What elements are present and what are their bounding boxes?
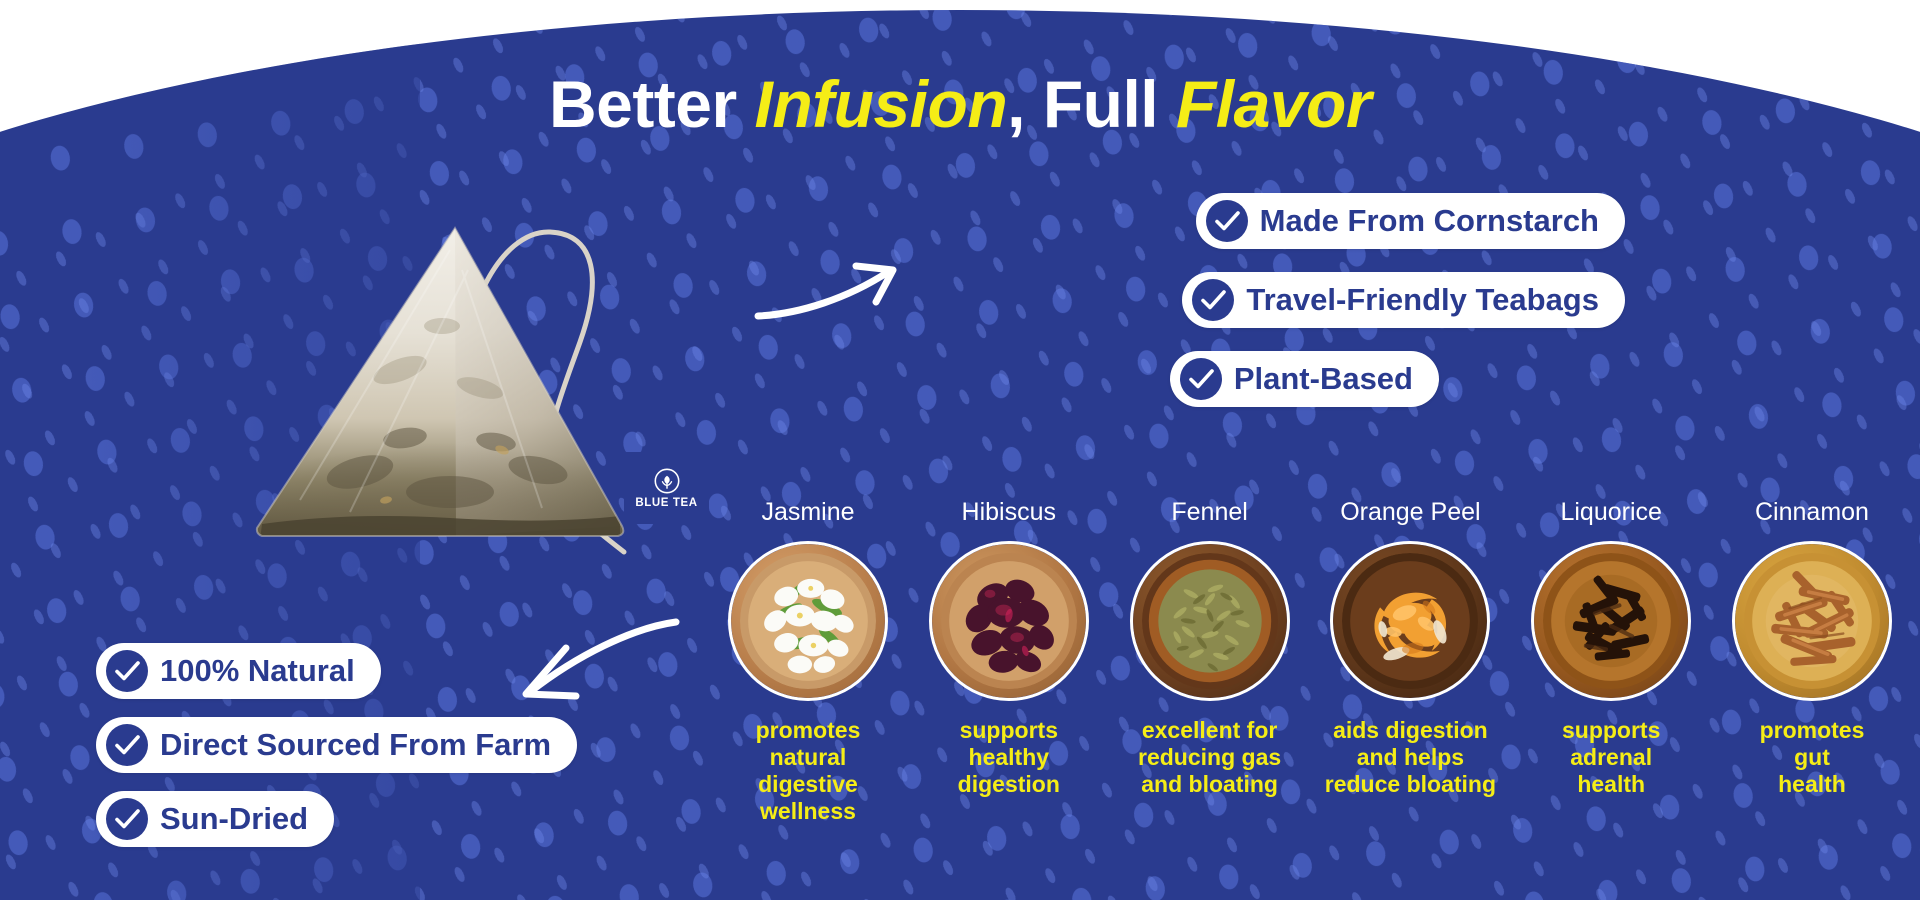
check-circle-icon bbox=[106, 798, 148, 840]
lotus-flower-icon bbox=[654, 468, 680, 494]
headline-accent-flavor: Flavor bbox=[1176, 67, 1371, 141]
feature-pill-label: Direct Sourced From Farm bbox=[160, 729, 551, 762]
ingredient-hibiscus: Hibiscus bbox=[911, 500, 1107, 900]
ingredient-liquorice: Liquorice bbox=[1513, 500, 1709, 900]
ingredient-orange-peel: Orange Peel bbox=[1312, 500, 1508, 900]
ingredient-name: Jasmine bbox=[761, 500, 854, 525]
ingredient-image-fennel bbox=[1130, 541, 1290, 701]
ingredient-jasmine: Jasmine bbox=[710, 500, 906, 900]
check-circle-icon bbox=[106, 724, 148, 766]
ingredient-image-hibiscus bbox=[929, 541, 1089, 701]
feature-pill-label: Made From Cornstarch bbox=[1260, 205, 1599, 238]
ingredient-name: Hibiscus bbox=[962, 500, 1056, 525]
check-circle-icon bbox=[106, 650, 148, 692]
check-circle-icon bbox=[1206, 200, 1248, 242]
ingredient-image-jasmine bbox=[728, 541, 888, 701]
ingredient-image-cinnamon bbox=[1732, 541, 1892, 701]
brand-tag-label: BLUE TEA bbox=[635, 497, 697, 509]
ingredient-description: excellent for reducing gas and bloating bbox=[1138, 717, 1281, 798]
feature-pill-cornstarch[interactable]: Made From Cornstarch bbox=[1196, 193, 1625, 249]
ingredient-cinnamon: Cinnamon bbox=[1714, 500, 1910, 900]
banner-canvas: Better Infusion, Full Flavor bbox=[0, 0, 1920, 900]
check-circle-icon bbox=[1180, 358, 1222, 400]
feature-pill-label: Sun-Dried bbox=[160, 803, 308, 836]
ingredient-image-liquorice bbox=[1531, 541, 1691, 701]
headline-accent-infusion: Infusion bbox=[755, 67, 1008, 141]
ingredient-name: Cinnamon bbox=[1755, 500, 1869, 525]
feature-pill-travel-friendly[interactable]: Travel-Friendly Teabags bbox=[1182, 272, 1625, 328]
arrow-to-benefits-icon bbox=[514, 612, 684, 702]
check-circle-icon bbox=[1192, 279, 1234, 321]
feature-pill-direct-sourced[interactable]: Direct Sourced From Farm bbox=[96, 717, 577, 773]
feature-pill-label: Travel-Friendly Teabags bbox=[1246, 284, 1599, 317]
feature-pill-plant-based[interactable]: Plant-Based bbox=[1170, 351, 1439, 407]
ingredient-description: supports adrenal health bbox=[1562, 717, 1660, 798]
feature-pill-label: Plant-Based bbox=[1234, 363, 1413, 396]
feature-pill-label: 100% Natural bbox=[160, 655, 355, 688]
ingredient-name: Liquorice bbox=[1560, 500, 1661, 525]
ingredient-fennel: Fennel bbox=[1112, 500, 1308, 900]
ingredient-description: aids digestion and helps reduce bloating bbox=[1325, 717, 1496, 798]
ingredient-description: promotes gut health bbox=[1760, 717, 1865, 798]
ingredient-name: Orange Peel bbox=[1340, 500, 1480, 525]
brand-tag: BLUE TEA bbox=[624, 452, 709, 524]
ingredient-description: supports healthy digestion bbox=[958, 717, 1060, 798]
headline-part-2: , Full bbox=[1007, 67, 1176, 141]
ingredient-name: Fennel bbox=[1171, 500, 1247, 525]
ingredient-list: Jasmine bbox=[710, 500, 1910, 900]
feature-pill-100-natural[interactable]: 100% Natural bbox=[96, 643, 381, 699]
ingredient-description: promotes natural digestive wellness bbox=[756, 717, 861, 825]
arrow-to-features-icon bbox=[752, 258, 912, 328]
feature-pill-sun-dried[interactable]: Sun-Dried bbox=[96, 791, 334, 847]
ingredient-image-orange-peel bbox=[1330, 541, 1490, 701]
